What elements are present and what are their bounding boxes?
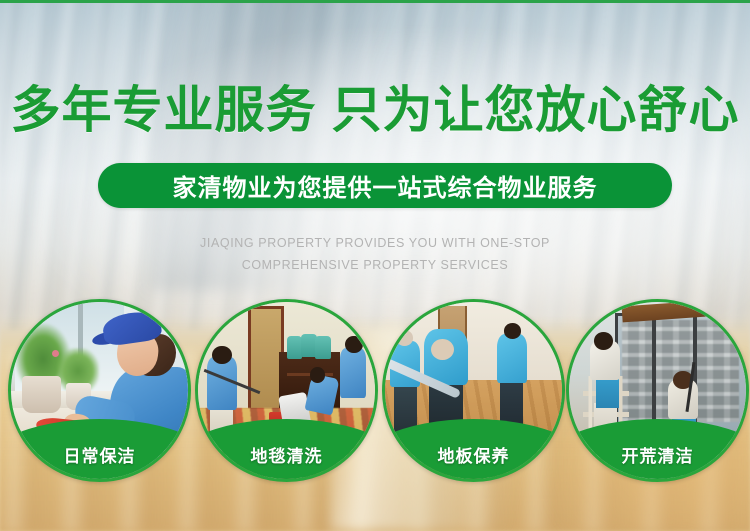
subtitle-english-line-1: JIAQING PROPERTY PROVIDES YOU WITH ONE-S… (0, 232, 750, 254)
service-label-post-construction-cleaning: 开荒清洁 (569, 442, 746, 467)
subtitle-english: JIAQING PROPERTY PROVIDES YOU WITH ONE-S… (0, 232, 750, 276)
service-label-daily-cleaning: 日常保洁 (11, 442, 188, 467)
service-circle-row: 日常保洁 地毯清洗 (0, 299, 750, 489)
service-circle-carpet-washing[interactable]: 地毯清洗 (195, 299, 378, 482)
service-circle-daily-cleaning[interactable]: 日常保洁 (8, 299, 191, 482)
subtitle-banner-text: 家清物业为您提供一站式综合物业服务 (173, 168, 598, 203)
subtitle-banner-pill: 家清物业为您提供一站式综合物业服务 (98, 163, 672, 208)
top-accent-rule (0, 0, 750, 3)
service-label-floor-maintenance: 地板保养 (385, 442, 562, 467)
service-circle-floor-maintenance[interactable]: 地板保养 (382, 299, 565, 482)
service-circle-post-construction-cleaning[interactable]: 开荒清洁 (566, 299, 749, 482)
promo-banner: 多年专业服务 只为让您放心舒心 家清物业为您提供一站式综合物业服务 JIAQIN… (0, 0, 750, 531)
subtitle-english-line-2: COMPREHENSIVE PROPERTY SERVICES (0, 254, 750, 276)
page-title: 多年专业服务 只为让您放心舒心 (0, 82, 750, 138)
service-label-carpet-washing: 地毯清洗 (198, 442, 375, 467)
